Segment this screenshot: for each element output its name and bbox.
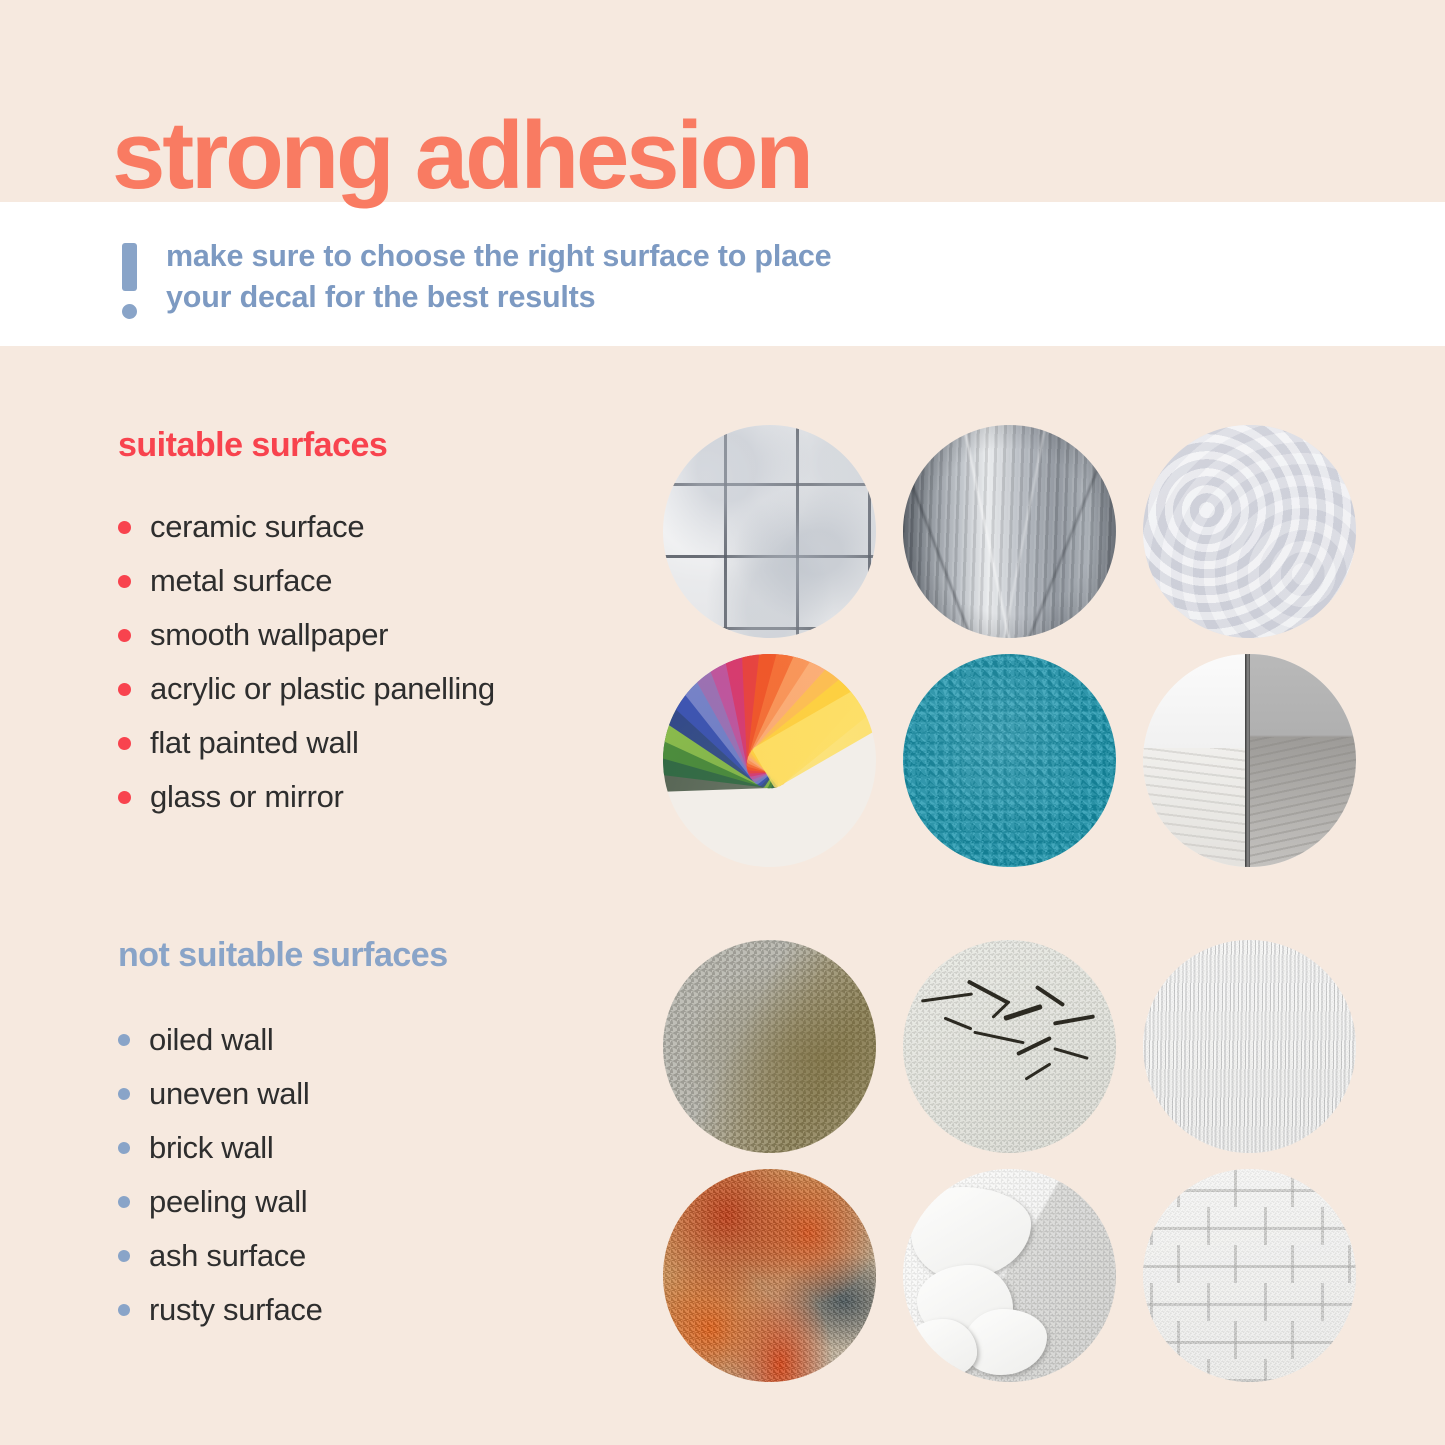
bullet-icon [118, 1088, 130, 1100]
list-item: peeling wall [118, 1175, 448, 1229]
white-brick-wall-swatch [1143, 1169, 1356, 1382]
bullet-icon [118, 521, 131, 534]
not-suitable-surfaces-heading: not suitable surfaces [118, 938, 448, 972]
not-suitable-surfaces-image-grid [663, 940, 1356, 1382]
bullet-icon [118, 791, 131, 804]
acrylic-panel-fan-swatch [663, 654, 876, 867]
bullet-icon [118, 1250, 130, 1262]
brushed-metal-swatch [903, 425, 1116, 638]
list-item-label: ash surface [149, 1238, 306, 1274]
suitable-surfaces-list: ceramic surface metal surface smooth wal… [118, 500, 495, 824]
suitable-surfaces-heading: suitable surfaces [118, 428, 495, 462]
list-item-label: metal surface [150, 563, 332, 599]
page-title: strong adhesion [112, 108, 811, 204]
exclamation-dot [122, 304, 137, 319]
bullet-icon [118, 1304, 130, 1316]
list-item-label: rusty surface [149, 1292, 323, 1328]
list-item: uneven wall [118, 1067, 448, 1121]
exclamation-mark-icon [122, 243, 137, 319]
cracked-wall-swatch [903, 940, 1116, 1153]
page-subtitle: make sure to choose the right surface to… [166, 236, 831, 318]
list-item: flat painted wall [118, 716, 495, 770]
glass-mirror-swatch [1143, 654, 1356, 867]
list-item-label: peeling wall [149, 1184, 307, 1220]
list-item-label: acrylic or plastic panelling [150, 671, 495, 707]
header-section: strong adhesion make sure to choose the … [0, 0, 1445, 350]
list-item-label: oiled wall [149, 1022, 274, 1058]
bullet-icon [118, 683, 131, 696]
bullet-icon [118, 575, 131, 588]
suitable-surfaces-image-grid [663, 425, 1356, 867]
exclamation-bar [122, 243, 137, 291]
uneven-textured-wall-swatch [1143, 940, 1356, 1153]
list-item: smooth wallpaper [118, 608, 495, 662]
teal-painted-wall-swatch [903, 654, 1116, 867]
list-item: metal surface [118, 554, 495, 608]
bullet-icon [118, 1196, 130, 1208]
bullet-icon [118, 629, 131, 642]
subtitle-line-2: your decal for the best results [166, 277, 831, 318]
oiled-wall-swatch [663, 940, 876, 1153]
bullet-icon [118, 1034, 130, 1046]
list-item: acrylic or plastic panelling [118, 662, 495, 716]
not-suitable-surfaces-block: not suitable surfaces oiled wall uneven … [118, 938, 448, 1337]
list-item-label: smooth wallpaper [150, 617, 388, 653]
suitable-surfaces-block: suitable surfaces ceramic surface metal … [118, 428, 495, 824]
list-item: glass or mirror [118, 770, 495, 824]
rusty-surface-swatch [663, 1169, 876, 1382]
bullet-icon [118, 1142, 130, 1154]
list-item-label: brick wall [149, 1130, 273, 1166]
list-item-label: flat painted wall [150, 725, 359, 761]
list-item-label: uneven wall [149, 1076, 309, 1112]
list-item-label: glass or mirror [150, 779, 344, 815]
peeling-wall-swatch [903, 1169, 1116, 1382]
list-item: ceramic surface [118, 500, 495, 554]
list-item: oiled wall [118, 1013, 448, 1067]
list-item-label: ceramic surface [150, 509, 364, 545]
bullet-icon [118, 737, 131, 750]
list-item: ash surface [118, 1229, 448, 1283]
list-item: rusty surface [118, 1283, 448, 1337]
ceramic-tile-swatch [663, 425, 876, 638]
smooth-wallpaper-swatch [1143, 425, 1356, 638]
subtitle-line-1: make sure to choose the right surface to… [166, 236, 831, 277]
not-suitable-surfaces-list: oiled wall uneven wall brick wall peelin… [118, 1013, 448, 1337]
list-item: brick wall [118, 1121, 448, 1175]
